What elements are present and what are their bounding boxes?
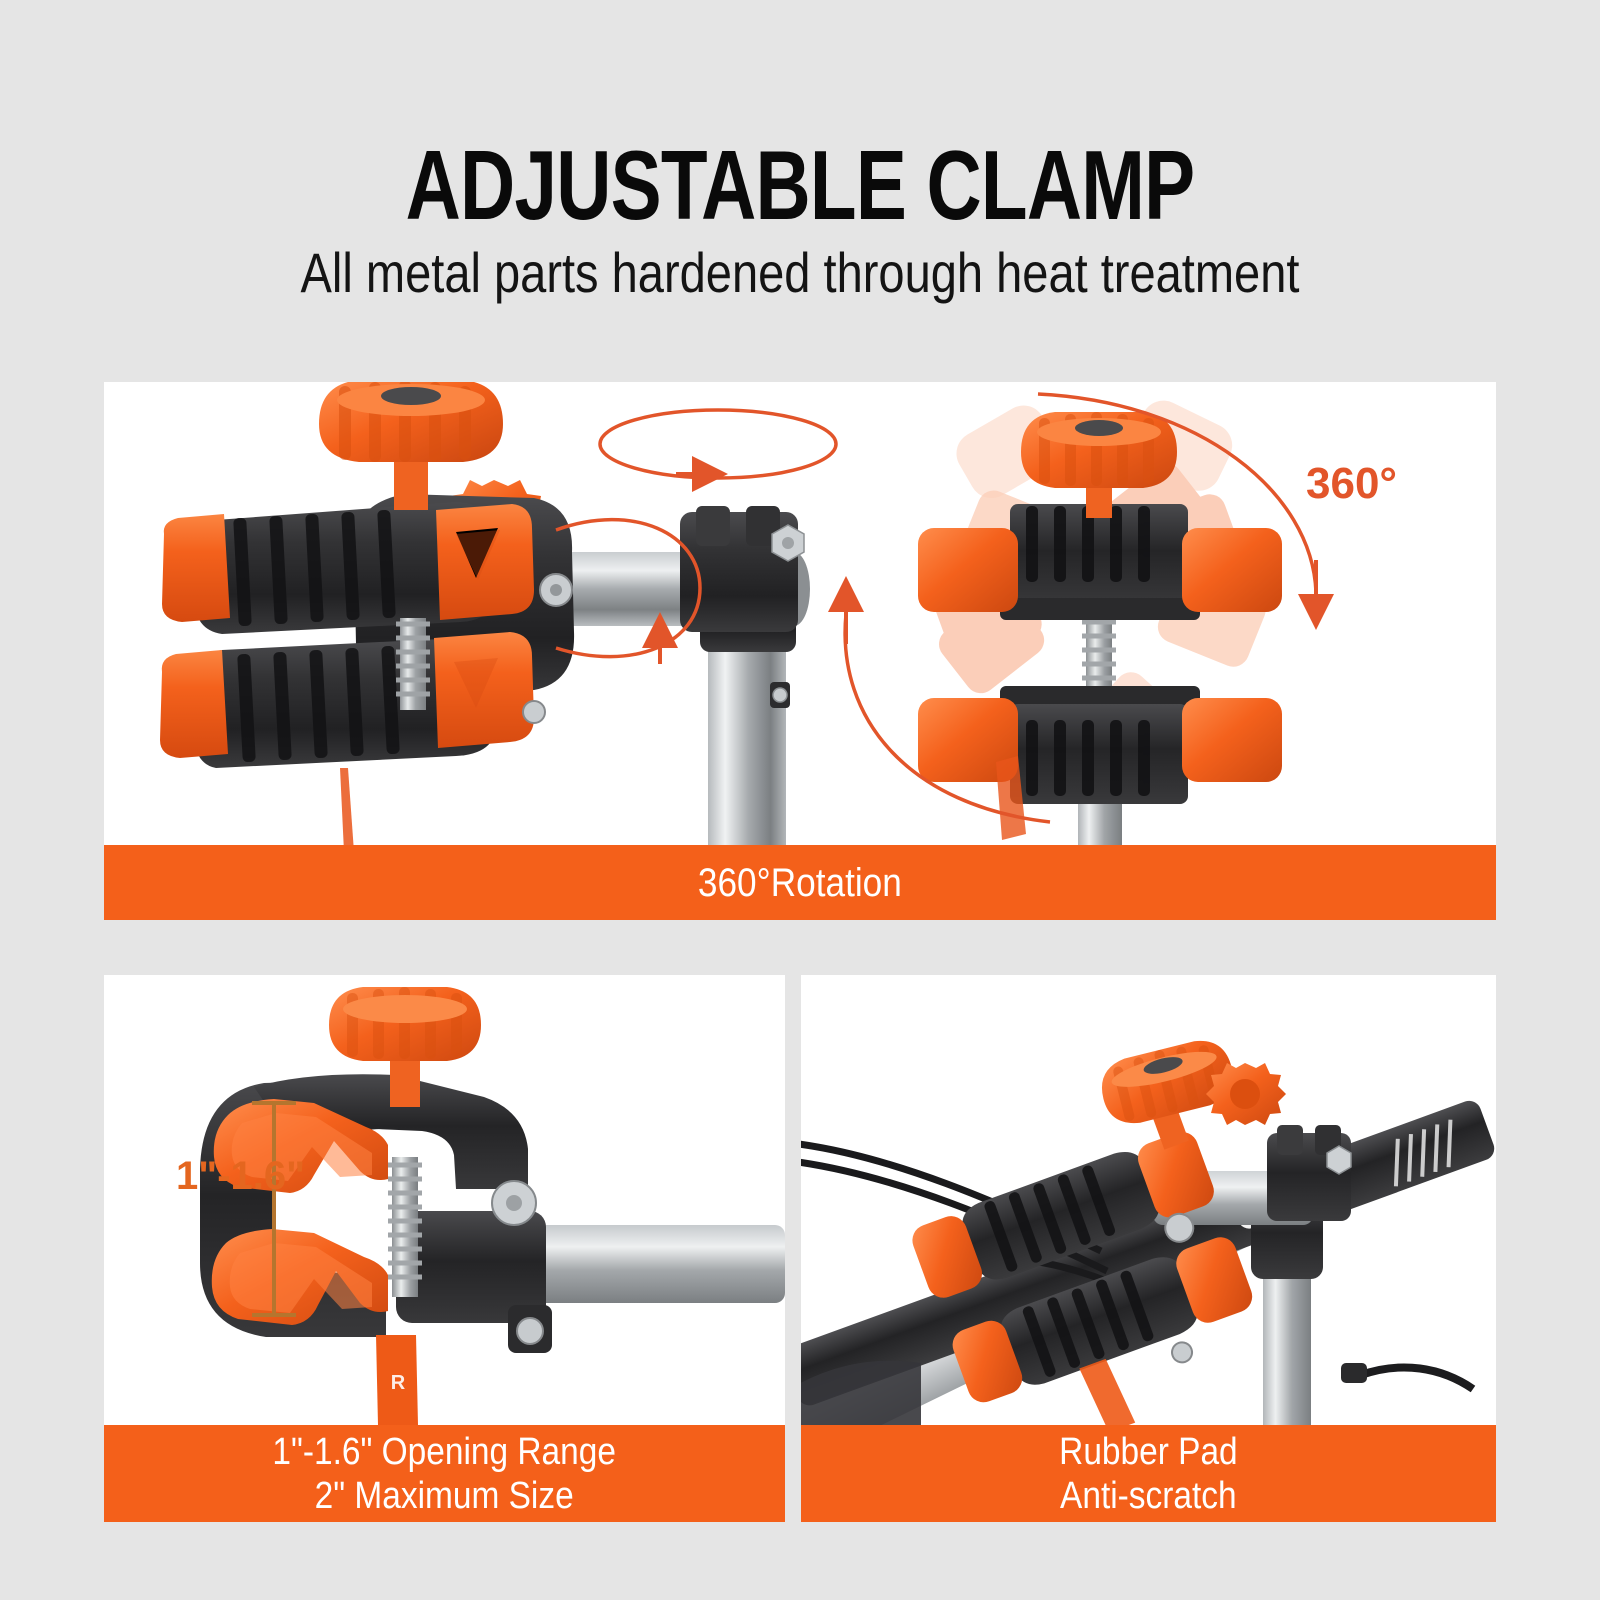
panel-rubber-pad: ICOL C-86 (801, 975, 1496, 1522)
lower-jaw-front (918, 686, 1282, 804)
top-knob-rubber (1095, 1034, 1286, 1150)
caption-line-1: Rubber Pad (1059, 1430, 1237, 1474)
rubber-pad-lower-left (160, 650, 228, 758)
rubber-pad-upper-left (162, 514, 230, 622)
rubber-pad-front-upper-right (1182, 528, 1282, 612)
panel-rubber-caption: Rubber Pad Anti-scratch (801, 1425, 1496, 1522)
svg-text:R: R (391, 1372, 406, 1394)
lower-screw-rubber (1169, 1340, 1195, 1366)
panel-360-rotation-right-image (800, 382, 1496, 845)
panel-opening-caption: 1"-1.6" Opening Range 2" Maximum Size (104, 1425, 785, 1522)
panel-opening-range: R 1"-1.6" Opening Range 2" Maximum Size (104, 975, 785, 1522)
clamp-opening-illustration: R (104, 975, 785, 1425)
panel-360-caption: 360°Rotation (104, 845, 1496, 920)
post-bolt (770, 682, 790, 708)
degree-360-label: 360° (1306, 462, 1397, 506)
lower-screw (523, 701, 545, 723)
upper-jaw (162, 502, 534, 634)
caption-line-2: 2" Maximum Size (315, 1474, 574, 1518)
header: ADJUSTABLE CLAMP All metal parts hardene… (0, 0, 1600, 382)
rubber-pad-front-lower-right (1182, 698, 1282, 782)
clamp-head (160, 382, 574, 845)
infographic-page: ADJUSTABLE CLAMP All metal parts hardene… (0, 0, 1600, 1600)
caption-line: 360°Rotation (698, 860, 902, 906)
caption-line-2: Anti-scratch (1060, 1474, 1237, 1518)
rubber-pad-lower-right (434, 632, 534, 748)
stand-post-rubber (1263, 1259, 1311, 1425)
clamp-spring (396, 618, 430, 710)
arm-collar-rubber (1267, 1125, 1351, 1221)
pivot-bolt (540, 574, 572, 606)
caption-line-1: 1"-1.6" Opening Range (273, 1430, 617, 1474)
rubber-pad-front-upper-left (918, 528, 1018, 612)
ghosted-rotation-image (800, 382, 1496, 845)
bike-frame-clamped-illustration: ICOL C-86 (801, 975, 1496, 1425)
clamp-front-rotation-illustration (800, 382, 1496, 845)
product-tag-rubber (1079, 1357, 1135, 1425)
product-tag-opening: R (376, 1335, 418, 1425)
page-title: ADJUSTABLE CLAMP (176, 136, 1424, 234)
bike-accessory (1341, 1363, 1473, 1389)
product-tag (340, 768, 354, 845)
panel-opening-image: R (104, 975, 785, 1425)
opening-range-label: 1"-1.6" (176, 1156, 305, 1196)
page-subtitle: All metal parts hardened through heat tr… (128, 242, 1472, 304)
pivot-bolt-opening (492, 1181, 536, 1225)
lower-jaw (160, 632, 534, 768)
clamp-collar (396, 1211, 552, 1353)
panel-rubber-image: ICOL C-86 (801, 975, 1496, 1425)
clamp-screw-spring (388, 1157, 422, 1297)
